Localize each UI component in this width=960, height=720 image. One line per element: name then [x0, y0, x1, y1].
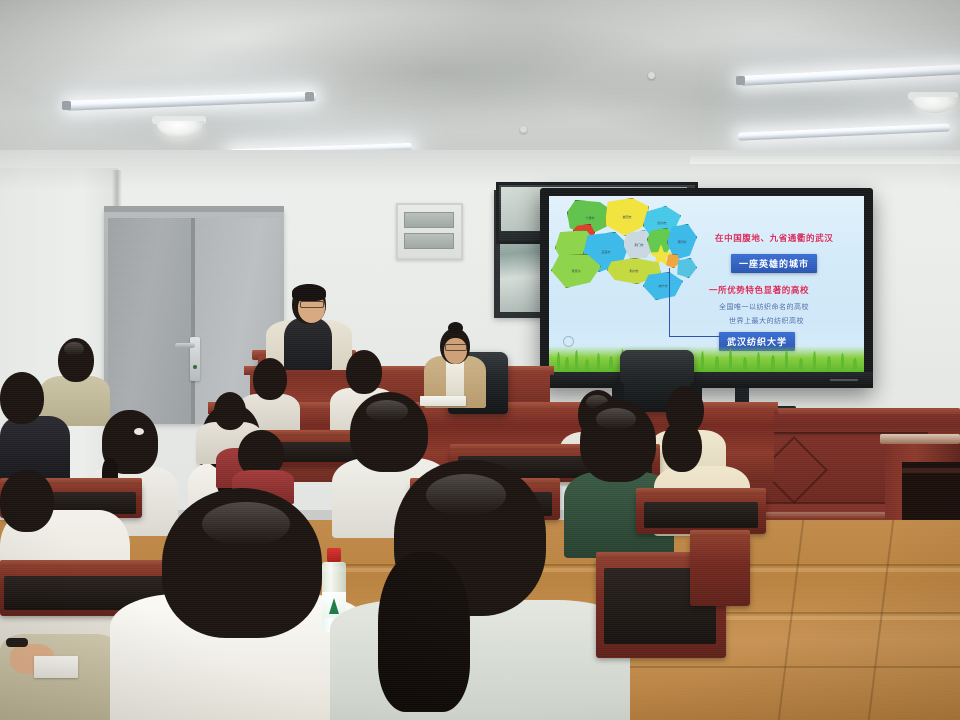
tube-end-cap	[305, 92, 314, 101]
side-desk-shelf	[902, 468, 960, 473]
audience-member	[232, 430, 294, 496]
moderator-hair-bun	[448, 322, 463, 334]
moderator-face	[444, 338, 467, 364]
side-desk-top	[880, 434, 960, 444]
display-status-leds	[830, 379, 858, 381]
wristwatch	[6, 638, 28, 647]
tube-end-cap	[736, 76, 745, 85]
audience-head	[662, 420, 702, 472]
breaker-row	[404, 233, 454, 249]
glasses-icon	[445, 344, 467, 351]
door-lintel	[104, 206, 284, 212]
bottle-highlight	[330, 548, 354, 566]
slide-leader-line	[669, 268, 720, 337]
audience-member	[0, 614, 120, 720]
door-gap	[191, 218, 195, 424]
slide-highlight-city: 一座英雄的城市	[731, 254, 817, 273]
map-region: 黄冈市	[667, 224, 697, 260]
audience-head	[0, 470, 54, 532]
glasses-icon	[300, 301, 324, 308]
document	[34, 656, 78, 678]
bench-seat[interactable]	[690, 536, 750, 606]
door-handle[interactable]	[175, 343, 195, 348]
sprinkler-head	[520, 126, 527, 133]
bench-cushion	[644, 502, 758, 528]
audience-member	[330, 460, 630, 720]
wall-cornice	[690, 156, 960, 164]
moderator-blouse	[446, 360, 464, 396]
electrical-panel[interactable]	[396, 203, 463, 260]
door-lock-indicator	[193, 365, 197, 369]
audience-head	[0, 372, 44, 424]
map-region: 襄阳市	[605, 198, 649, 236]
hair-tie	[134, 428, 144, 435]
slide-grass-decoration	[549, 346, 864, 372]
breaker-row	[404, 212, 454, 228]
audience-ponytail	[378, 552, 470, 712]
tube-end-cap	[62, 101, 71, 110]
lecture-hall-photo: 十堰市 襄阳市 随州市 宜昌市 荆门市 黄冈市 荆州市	[0, 0, 960, 720]
slide-sub-1: 全国唯一以纺织命名的高校	[719, 302, 809, 312]
audience-member	[0, 372, 70, 482]
door-left-leaf[interactable]	[108, 218, 192, 424]
slide-title: 在中国腹地、九省通衢的武汉	[715, 232, 833, 244]
slide-heading-university: 一所优势特色显著的高校	[709, 284, 809, 296]
speaker-hair	[292, 284, 326, 301]
display-screen[interactable]: 十堰市 襄阳市 随州市 宜昌市 荆门市 黄冈市 荆州市	[549, 196, 864, 372]
audience-head	[346, 350, 382, 394]
audience-shirt	[330, 600, 630, 720]
slide-sub-2: 世界上最大的纺织高校	[729, 316, 804, 326]
sprinkler-head	[648, 72, 655, 79]
